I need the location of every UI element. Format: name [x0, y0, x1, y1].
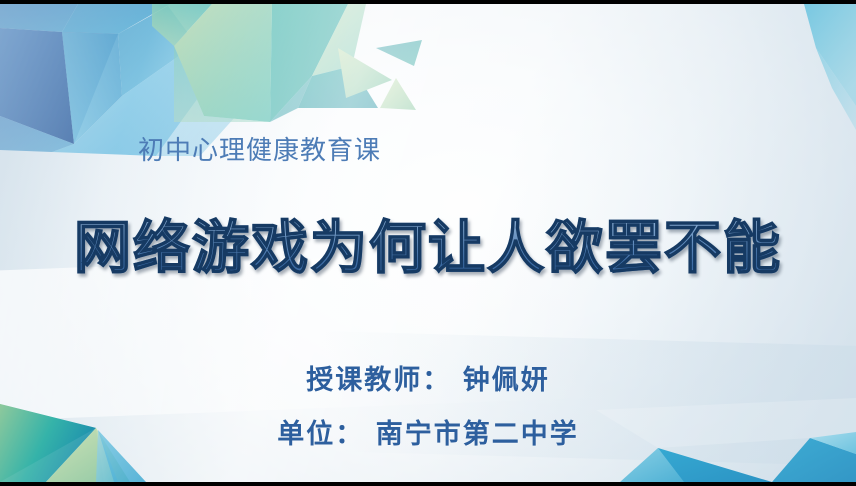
presenter-unit-line: 单位： 南宁市第二中学 — [0, 412, 856, 451]
presentation-slide: 初中心理健康教育课 网络游戏为何让人欲罢不能 授课教师： 钟佩妍 单位： 南宁市… — [0, 0, 856, 486]
slide-canvas: 初中心理健康教育课 网络游戏为何让人欲罢不能 授课教师： 钟佩妍 单位： 南宁市… — [0, 4, 856, 482]
letterbox-bar-bottom — [0, 482, 856, 486]
letterbox-bar-top — [0, 0, 856, 4]
slide-main-title-text: 网络游戏为何让人欲罢不能 — [74, 215, 782, 281]
slide-text-layer: 初中心理健康教育课 网络游戏为何让人欲罢不能 授课教师： 钟佩妍 单位： 南宁市… — [0, 4, 856, 482]
presenter-teacher-line: 授课教师： 钟佩妍 — [0, 358, 856, 397]
slide-subtitle: 初中心理健康教育课 — [138, 130, 381, 167]
slide-main-title: 网络游戏为何让人欲罢不能 — [0, 218, 856, 280]
